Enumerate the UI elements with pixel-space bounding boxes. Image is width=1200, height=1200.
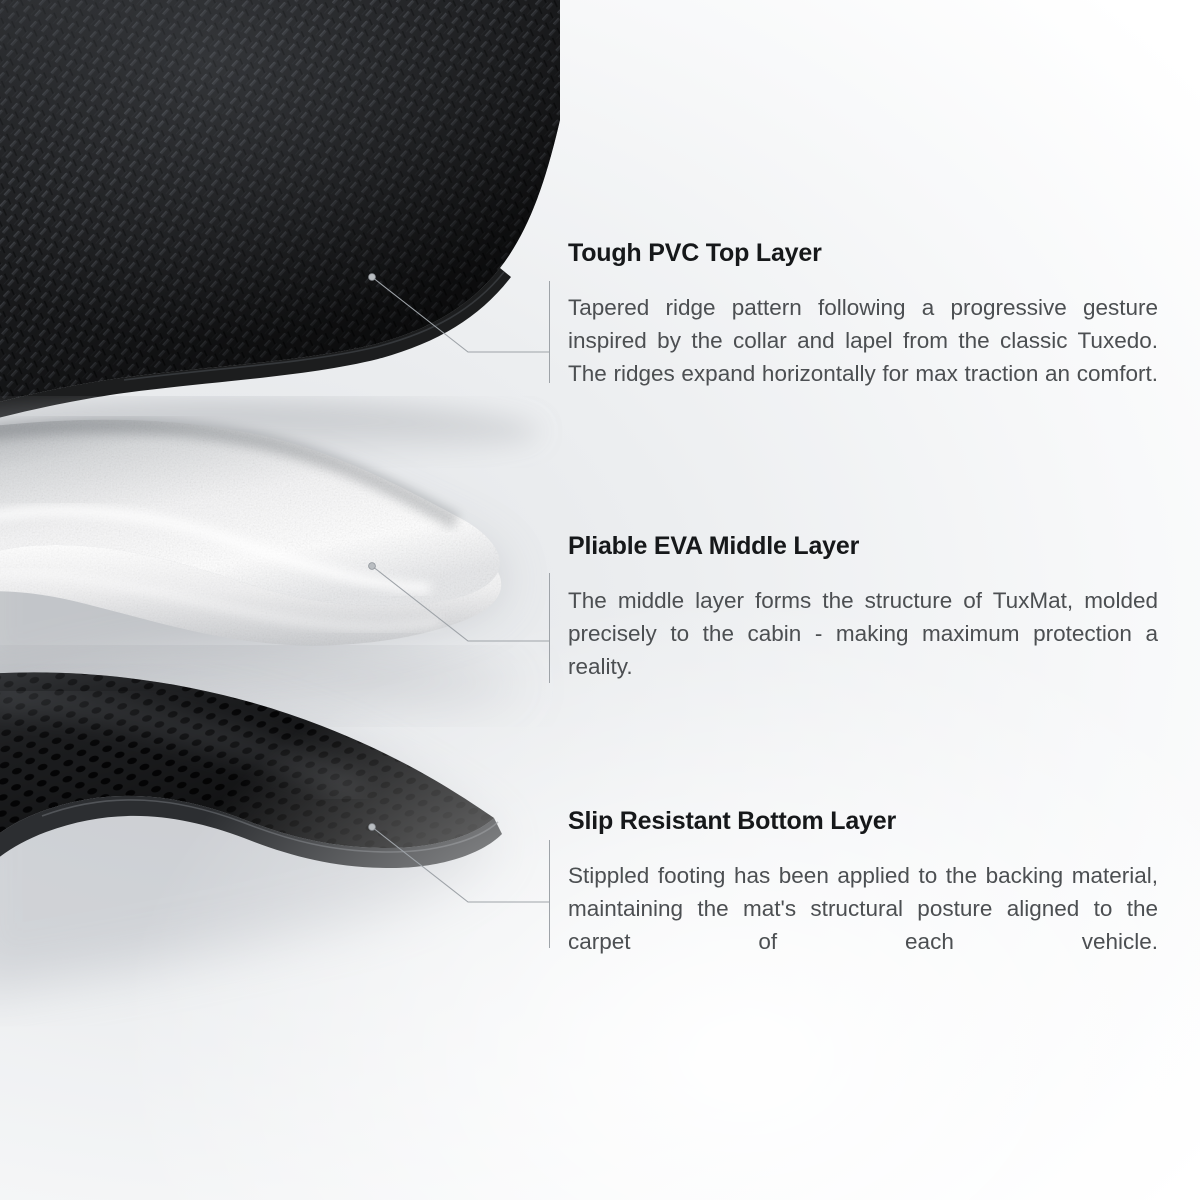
callout-rule-top	[549, 281, 550, 383]
callout-body-top: Tapered ridge pattern following a progre…	[568, 292, 1158, 423]
callout-heading-bottom: Slip Resistant Bottom Layer	[568, 809, 1158, 834]
callout-body-middle: The middle layer forms the structure of …	[568, 585, 1158, 716]
layer-diagram-page: Tough PVC Top Layer Tapered ridge patter…	[0, 0, 1200, 1200]
callout-heading-middle: Pliable EVA Middle Layer	[568, 534, 1158, 559]
callout-heading-top: Tough PVC Top Layer	[568, 241, 1158, 266]
leader-dot-icon	[369, 824, 376, 831]
leader-line-middle	[372, 566, 549, 641]
leader-line-bottom	[372, 827, 549, 902]
leader-line-top	[372, 277, 549, 352]
callout-rule-bottom	[549, 840, 550, 948]
leader-dot-icon	[369, 274, 376, 281]
callout-rule-middle	[549, 573, 550, 683]
leader-dot-icon	[369, 563, 376, 570]
callout-body-bottom: Stippled footing has been applied to the…	[568, 860, 1158, 991]
